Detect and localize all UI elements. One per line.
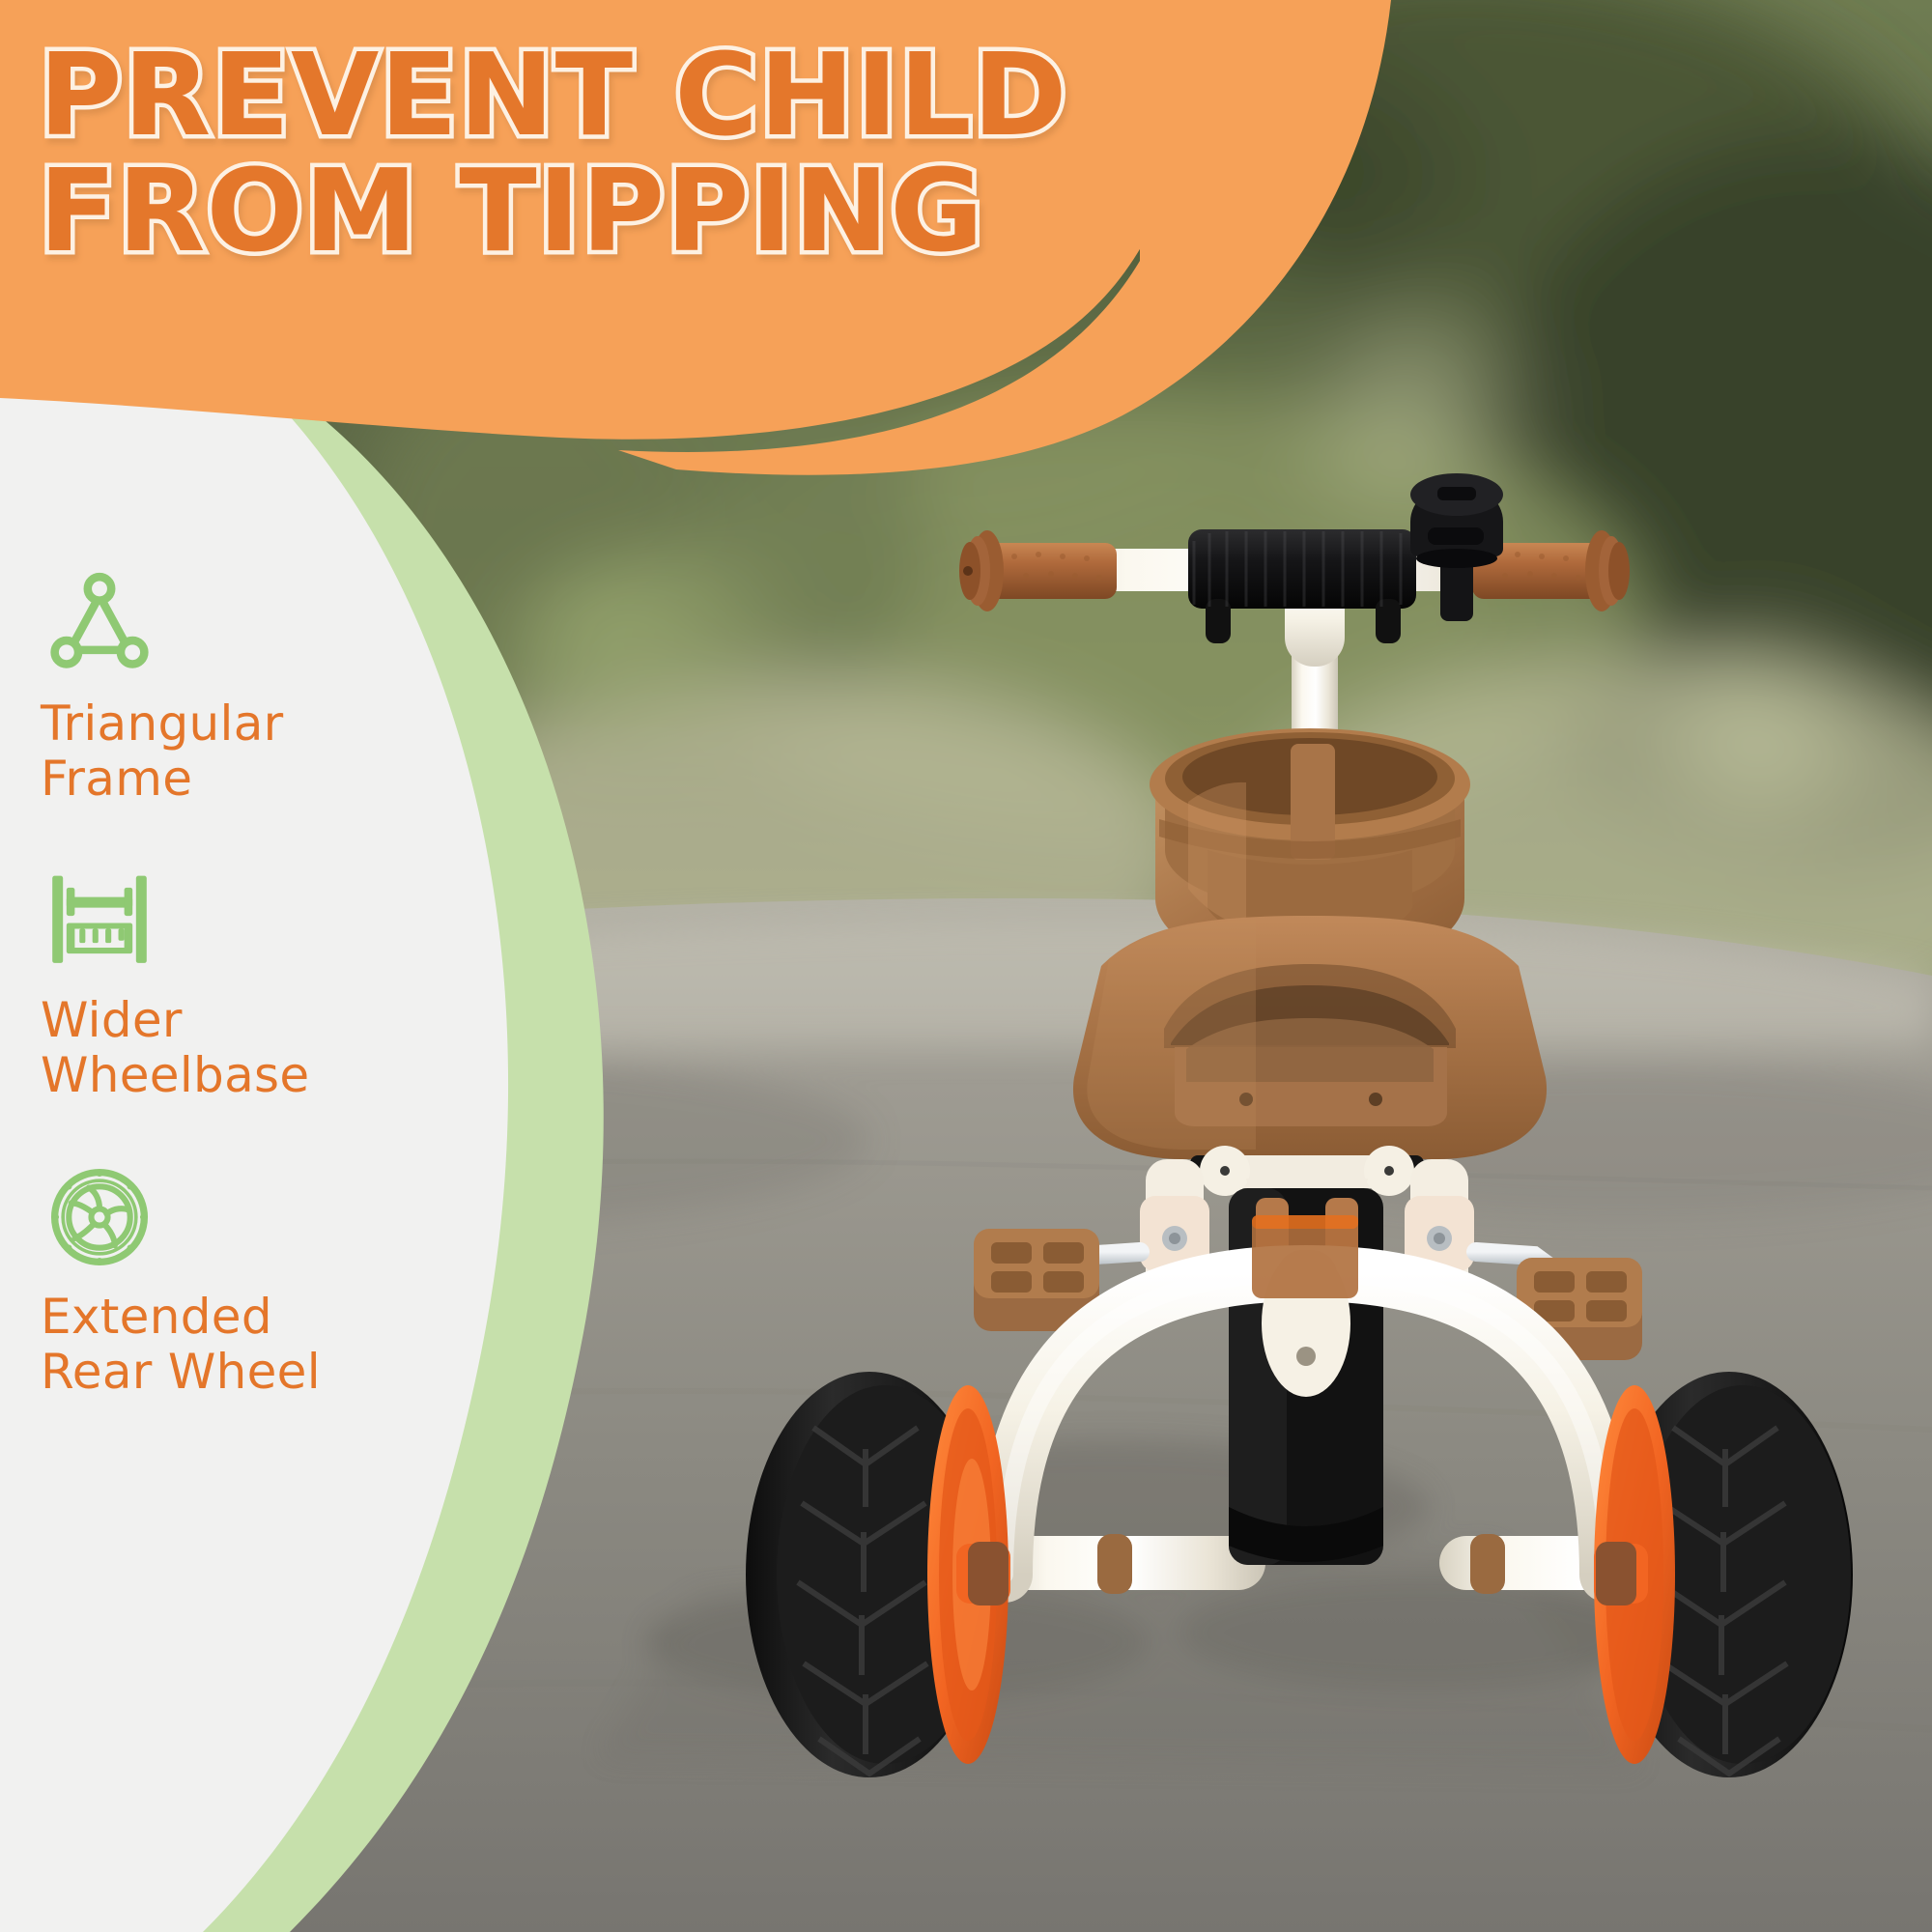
rear-wheel-left <box>746 1372 1010 1777</box>
banner-canvas: PREVENT CHILD FROM TIPPING Triangular Fr… <box>0 0 1932 1932</box>
feature-label-extended-rear-wheel: Extended Rear Wheel <box>41 1289 321 1400</box>
wheelbase-measure-icon <box>41 862 158 980</box>
headline: PREVENT CHILD FROM TIPPING <box>39 37 1179 270</box>
seat <box>1073 916 1547 1159</box>
headline-line-1: PREVENT CHILD <box>39 37 1179 153</box>
feature-label-wider-wheelbase: Wider Wheelbase <box>41 992 309 1103</box>
rear-wheel-right <box>1594 1372 1853 1777</box>
frame-accents <box>1252 1215 1358 1298</box>
feature-item-wider-wheelbase: Wider Wheelbase <box>41 862 359 1102</box>
rear-wheel-icon <box>41 1158 158 1276</box>
feature-label-triangular-frame: Triangular Frame <box>41 696 284 807</box>
feature-list: Triangular Frame <box>41 565 359 1455</box>
triangular-frame-icon <box>41 565 158 683</box>
headline-line-2: FROM TIPPING <box>39 153 1179 269</box>
feature-item-triangular-frame: Triangular Frame <box>41 565 359 806</box>
feature-item-extended-rear-wheel: Extended Rear Wheel <box>41 1158 359 1399</box>
